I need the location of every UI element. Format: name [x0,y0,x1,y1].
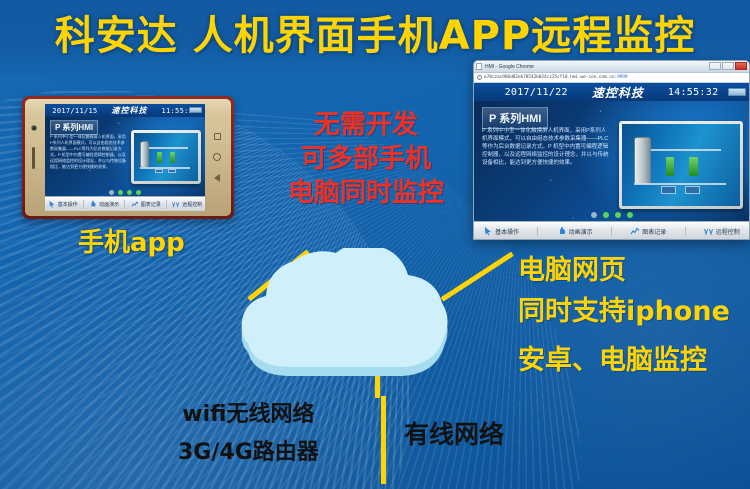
phone-hmi-panel-title: P 系列HMI [50,120,98,135]
pc-toolbar-item-remote-control[interactable]: 远程控制 [704,226,740,236]
phone-screen[interactable]: 2017/11/15 速控科技 11:55:28 P 系列HMI P 系列中小型… [45,104,205,211]
phone-navigation-buttons[interactable] [210,99,224,216]
home-icon[interactable] [213,153,221,161]
pc-hmi-topbar: 2017/11/22 速控科技 14:55:32 [474,83,749,101]
phone-toolbar-label: 图表记录 [141,201,161,208]
phone-hmi-topbar: 2017/11/15 速控科技 11:55:28 [45,104,205,117]
red-line-3: 电脑同时监控 [288,176,444,210]
valve-graphic [666,157,674,177]
browser-window: HMI - Google Chrome i e70czac986d82eb785… [473,60,750,240]
close-button[interactable] [735,62,747,70]
minimize-button[interactable] [709,62,721,70]
phone-hmi-corner-button[interactable] [189,107,202,113]
back-icon[interactable] [214,174,220,182]
phone-hmi-toolbar: 基本操作 动画演示 图表记录 远程控制 [45,196,205,211]
url-port: :9999 [614,75,627,80]
page-dot[interactable] [127,190,132,195]
phone-hmi-page-dots[interactable] [109,190,141,195]
page-dot[interactable] [591,212,597,218]
toolbar-separator [537,227,538,236]
pc-hmi-panel-title: P 系列HMI [482,107,548,129]
block-graphic [661,186,676,193]
block-graphic [155,169,163,173]
page-dot[interactable] [136,190,141,195]
pc-hmi-brand: 速控科技 [592,84,644,101]
pc-hmi-screen[interactable]: 2017/11/22 速控科技 14:55:32 P 系列HMI P 系列中小型… [474,83,749,240]
pipe-graphic [651,149,722,151]
phone-camera-icon [31,125,37,131]
recents-icon[interactable] [214,133,221,140]
phone-toolbar-item-remote-control[interactable]: 远程控制 [172,200,202,208]
cursor-icon [48,200,56,208]
bottom-left-network-text: wifi无线网络 3G/4G路由器 [178,396,319,472]
phone-toolbar-item-animation-demo[interactable]: 动画演示 [89,200,119,208]
url-host: e70czac986d82eb78542b024cz35cf18.hmi.we-… [484,75,614,80]
red-line-1: 无需开发 [288,108,444,142]
cursor-icon [483,226,493,236]
pc-hmi-page-dots[interactable] [591,212,633,218]
phone-hmi-product-image [131,130,201,184]
cloud-graphic [232,248,462,383]
right-line-3: 安卓、电脑监控 [518,340,730,381]
pc-hmi-paragraph: P 系列中小型一体化触摸屏人机界面，采用P系列人机界面模式，可以自由组态技术参数… [482,127,611,167]
pc-toolbar-label: 远程控制 [716,227,740,236]
bottom-divider [381,396,386,484]
browser-url-text[interactable]: e70czac986d82eb78542b024cz35cf18.hmi.we-… [484,75,628,80]
chart-line-icon [630,226,640,236]
toolbar-separator [166,200,167,209]
chart-line-icon [131,200,139,208]
browser-url-bar[interactable]: i e70czac986d82eb78542b024cz35cf18.hmi.w… [474,73,749,83]
pc-toolbar-item-chart-record[interactable]: 图表记录 [630,226,666,236]
valve-graphic [689,157,697,177]
pc-hmi-date: 2017/11/22 [505,87,568,98]
page-dot[interactable] [109,190,114,195]
toolbar-separator [83,200,84,209]
pc-hmi-time: 14:55:32 [668,87,719,98]
cloud-svg [232,248,462,383]
info-icon[interactable]: i [477,75,482,80]
bottom-left-line-2: 3G/4G路由器 [178,434,319,472]
phone-toolbar-label: 远程控制 [182,201,202,208]
toolbar-separator [685,227,686,236]
pc-toolbar-item-animation-demo[interactable]: 动画演示 [557,226,593,236]
phone-toolbar-item-basic-operation[interactable]: 基本操作 [48,200,78,208]
block-graphic [168,169,176,173]
bottom-right-network-text: 有线网络 [404,415,504,451]
red-feature-text: 无需开发 可多部手机 电脑同时监控 [288,108,444,210]
page-title: 科安达 人机界面手机APP远程监控 [0,8,750,64]
phone-toolbar-item-chart-record[interactable]: 图表记录 [131,200,161,208]
toolbar-separator [124,200,125,209]
label-phone-app: 手机app [78,222,185,259]
wave-icon [704,226,714,236]
pipe-graphic [149,147,188,149]
pipe-graphic [140,167,190,169]
pc-toolbar-label: 图表记录 [642,227,666,236]
browser-window-title: HMI - Google Chrome [485,64,534,70]
valve-graphic [157,152,162,163]
tank-graphic [634,137,650,185]
hand-icon [89,200,97,208]
phone-speaker-icon [32,147,35,169]
phone-hmi-date: 2017/11/15 [52,107,97,115]
maximize-button[interactable] [722,62,734,70]
page-dot[interactable] [627,212,633,218]
pc-toolbar-label: 基本操作 [495,227,519,236]
tank-graphic [140,141,149,169]
block-graphic [685,186,700,193]
pipe-graphic [634,183,726,185]
browser-viewport: 2017/11/22 速控科技 14:55:32 P 系列HMI P 系列中小型… [474,83,749,240]
pc-toolbar-item-basic-operation[interactable]: 基本操作 [483,226,519,236]
browser-title-bar: HMI - Google Chrome [474,61,749,73]
phone-toolbar-label: 基本操作 [58,201,78,208]
right-feature-text: 电脑网页 同时支持iphone 安卓、电脑监控 [518,250,730,381]
phone-toolbar-label: 动画演示 [99,201,119,208]
phone-body: 2017/11/15 速控科技 11:55:28 P 系列HMI P 系列中小型… [25,99,231,216]
phone-device: 2017/11/15 速控科技 11:55:28 P 系列HMI P 系列中小型… [22,96,234,219]
page-icon [476,63,482,70]
window-controls[interactable] [709,62,747,70]
page-dot[interactable] [615,212,621,218]
page-dot[interactable] [603,212,609,218]
valve-graphic [170,152,175,163]
pc-hmi-product-image [619,121,743,209]
toolbar-separator [611,227,612,236]
cloud-body [242,248,448,367]
right-line-2: 同时支持iphone [518,291,730,332]
phone-hmi-paragraph: P 系列中小型一体化触摸屏人机界面，采用P系列人机界面模式，可以自由组态技术参数… [50,134,127,170]
page-dot[interactable] [118,190,123,195]
phone-hmi-product-screen [134,133,198,181]
pc-hmi-corner-button[interactable] [728,88,746,96]
hand-icon [557,226,567,236]
wave-icon [172,200,180,208]
bottom-left-line-1: wifi无线网络 [178,396,319,434]
phone-hmi-brand: 速控科技 [112,105,148,116]
right-line-1: 电脑网页 [518,250,730,291]
pc-hmi-product-screen [622,124,740,206]
pc-hmi-toolbar: 基本操作 动画演示 图表记录 远程控制 [474,221,749,240]
pc-toolbar-label: 动画演示 [569,227,593,236]
red-line-2: 可多部手机 [288,142,444,176]
